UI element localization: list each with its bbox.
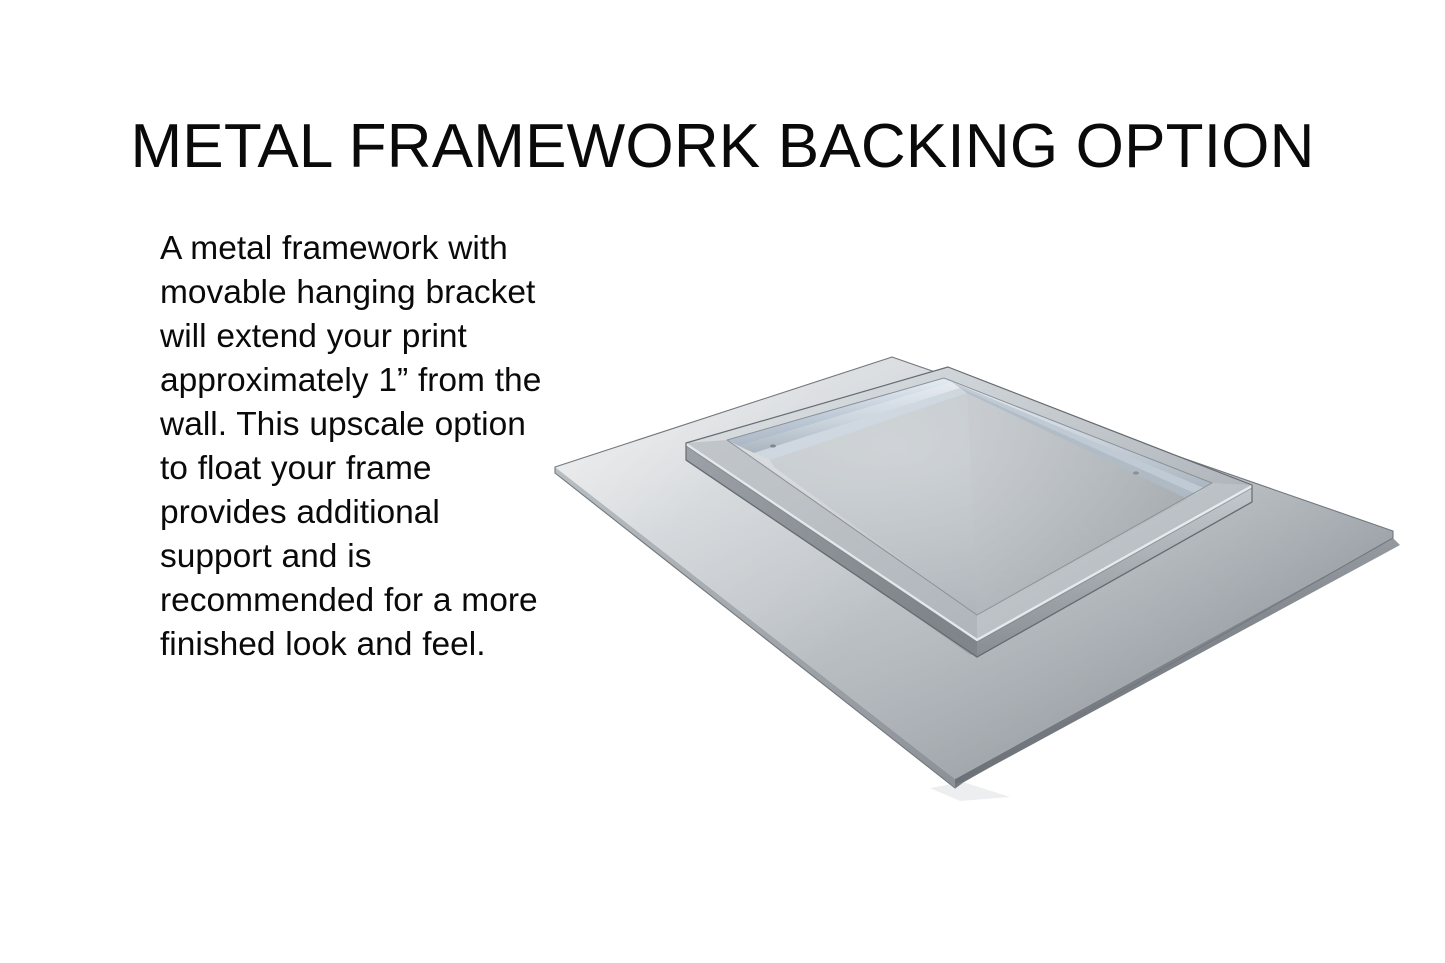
page-title: METAL FRAMEWORK BACKING OPTION — [0, 114, 1445, 179]
bracket-fastener-left — [770, 444, 776, 447]
slide-canvas: METAL FRAMEWORK BACKING OPTION A metal f… — [0, 0, 1445, 963]
description-paragraph: A metal framework with movable hanging b… — [160, 227, 552, 667]
metal-framework-illustration — [540, 345, 1420, 805]
bracket-fastener-right — [1133, 471, 1139, 474]
metal-framework-figure: Brushed aluminum backing plate with a ra… — [540, 345, 1420, 805]
